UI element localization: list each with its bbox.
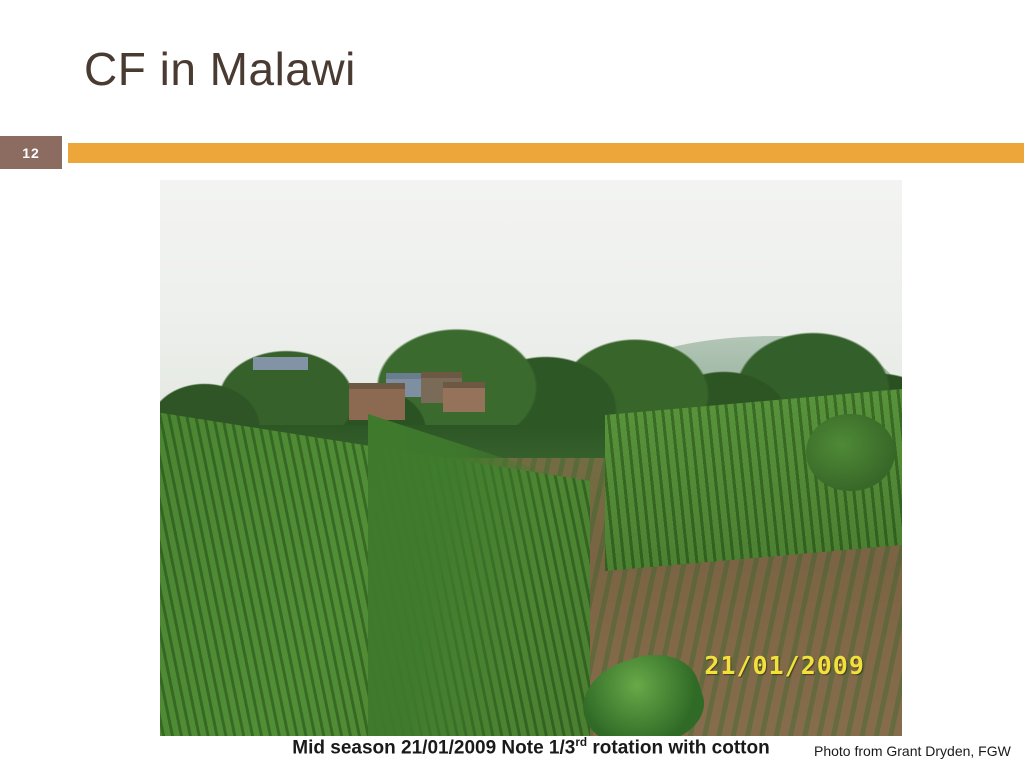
photo-caption-prefix: Mid season 21/01/2009 Note 1/3 [292,737,575,758]
title-divider-bar [68,143,1024,163]
photo-caption-superscript: rd [575,736,587,749]
field-photo: 21/01/2009 [160,180,902,736]
photo-caption: Mid season 21/01/2009 Note 1/3rd rotatio… [160,736,902,759]
hut-brick [349,383,405,420]
photo-date-stamp: 21/01/2009 [704,651,865,680]
photo-credit: Photo from Grant Dryden, FGW [814,743,1011,759]
photo-caption-suffix: rotation with cotton [587,737,770,758]
page-title: CF in Malawi [84,44,356,95]
bush-right [806,414,895,492]
hut-mud [443,382,485,411]
slide-number-badge: 12 [0,136,62,169]
hut-roof-far-left [253,357,309,370]
